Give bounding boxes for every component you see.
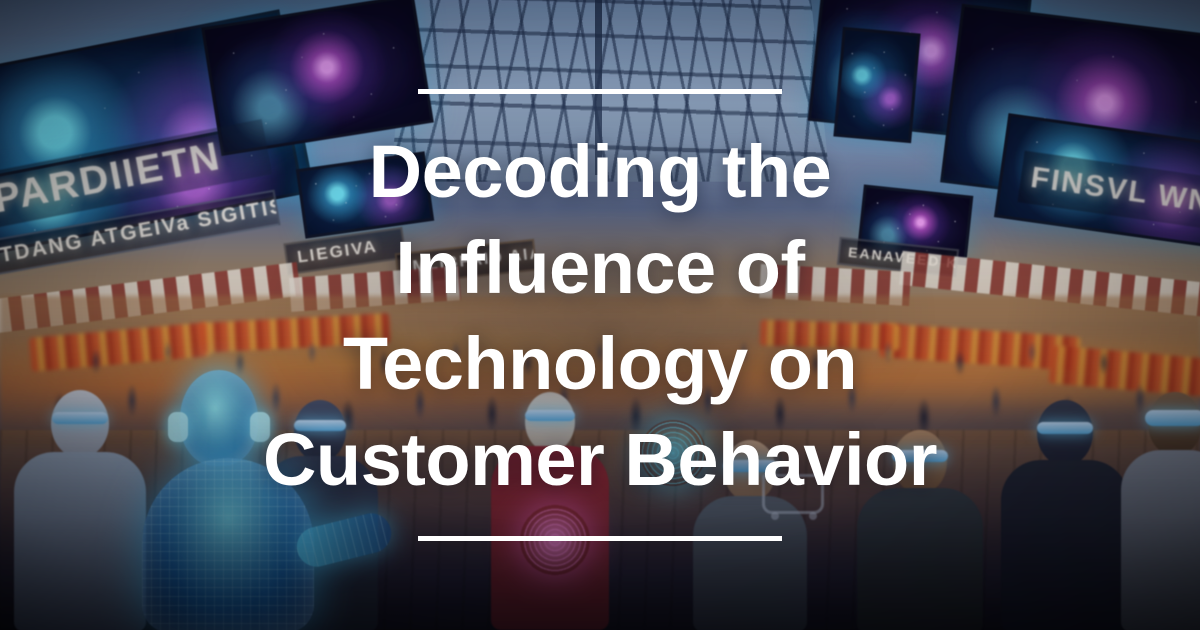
bottom-divider-rule — [418, 536, 782, 541]
page-title: Decoding the Influence of Technology on … — [100, 124, 1100, 508]
title-overlay: Decoding the Influence of Technology on … — [0, 0, 1200, 630]
title-line-4: Customer Behavior — [100, 412, 1100, 508]
article-hero-card: E PARDIIETN ACTDANG ATGEIVa SIGITIS LIEG… — [0, 0, 1200, 630]
top-divider-rule — [418, 89, 782, 94]
title-line-2: Influence of — [100, 220, 1100, 316]
title-line-3: Technology on — [100, 316, 1100, 412]
title-line-1: Decoding the — [100, 124, 1100, 220]
